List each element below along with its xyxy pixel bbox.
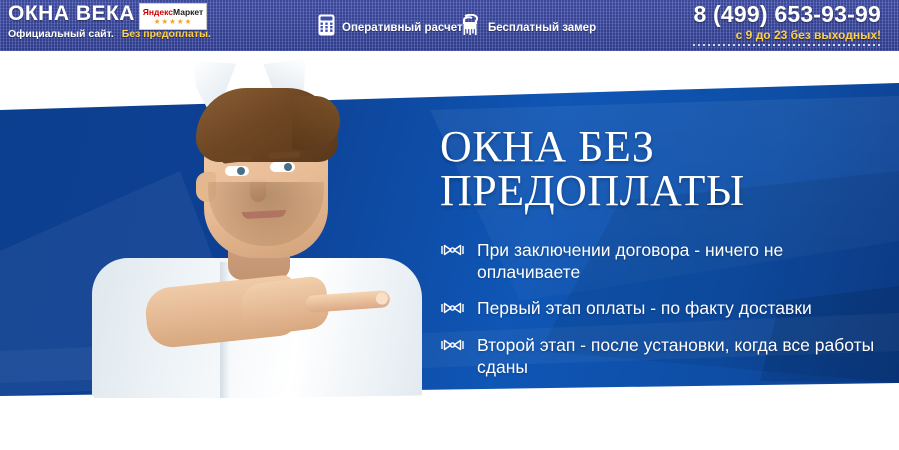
hero-banner: ОКНА БЕЗ ПРЕДОПЛАТЫ При заключении — [0, 51, 899, 450]
header-feature-calculation[interactable]: Оперативный расчет — [318, 14, 463, 41]
bow-tie-bullet-icon — [440, 301, 465, 320]
bow-tie-bullet-icon — [440, 243, 465, 262]
site-header: ОКНА ВЕКА Официальный сайт.Без предоплат… — [0, 0, 899, 51]
landing-page: ОКНА ВЕКА Официальный сайт.Без предоплат… — [0, 0, 899, 450]
list-item: Второй этап - после установки, когда все… — [440, 334, 886, 378]
rating-stars-icon: ★★★★★ — [154, 18, 193, 26]
hero-bullet-text: Первый этап оплаты - по факту доставки — [477, 297, 812, 319]
yandex-market-badge[interactable]: ЯндексМаркет ★★★★★ — [139, 3, 207, 30]
market-label: Маркет — [173, 7, 203, 17]
hero-title-line-1: ОКНА БЕЗ — [440, 122, 654, 171]
bow-tie-bullet-icon — [440, 338, 465, 357]
measuring-tape-icon — [461, 14, 481, 41]
hero-copy: ОКНА БЕЗ ПРЕДОПЛАТЫ При заключении — [440, 125, 886, 392]
phone-number[interactable]: 8 (499) 653-93-99 — [693, 2, 881, 27]
logo-subtitle-official: Официальный сайт. — [8, 28, 114, 40]
header-feature-measure[interactable]: Бесплатный замер — [461, 14, 596, 41]
header-phone-block[interactable]: 8 (499) 653-93-99 с 9 до 23 без выходных… — [693, 2, 881, 46]
hero-person-photo — [92, 53, 422, 398]
list-item: При заключении договора - ничего не опла… — [440, 239, 886, 283]
person-nose — [250, 178, 266, 202]
hero-bullet-list: При заключении договора - ничего не опла… — [440, 239, 886, 378]
hero-title-line-2: ПРЕДОПЛАТЫ — [440, 166, 745, 215]
header-feature-measure-label: Бесплатный замер — [488, 22, 596, 34]
list-item: Первый этап оплаты - по факту доставки — [440, 297, 886, 320]
header-feature-calculation-label: Оперативный расчет — [342, 22, 463, 34]
hero-title: ОКНА БЕЗ ПРЕДОПЛАТЫ — [440, 125, 886, 213]
yandex-market-badge-text: ЯндексМаркет — [143, 8, 203, 17]
yandex-label: Яндекс — [143, 7, 173, 17]
phone-dotted-divider — [693, 44, 881, 46]
phone-working-hours: с 9 до 23 без выходных! — [693, 28, 881, 42]
hero-bullet-text: При заключении договора - ничего не опла… — [477, 239, 886, 283]
calculator-icon — [318, 14, 335, 41]
person-eye-right — [270, 162, 295, 172]
person-eye-left — [225, 166, 249, 176]
person-hair — [196, 88, 338, 162]
hero-bullet-text: Второй этап - после установки, когда все… — [477, 334, 886, 378]
